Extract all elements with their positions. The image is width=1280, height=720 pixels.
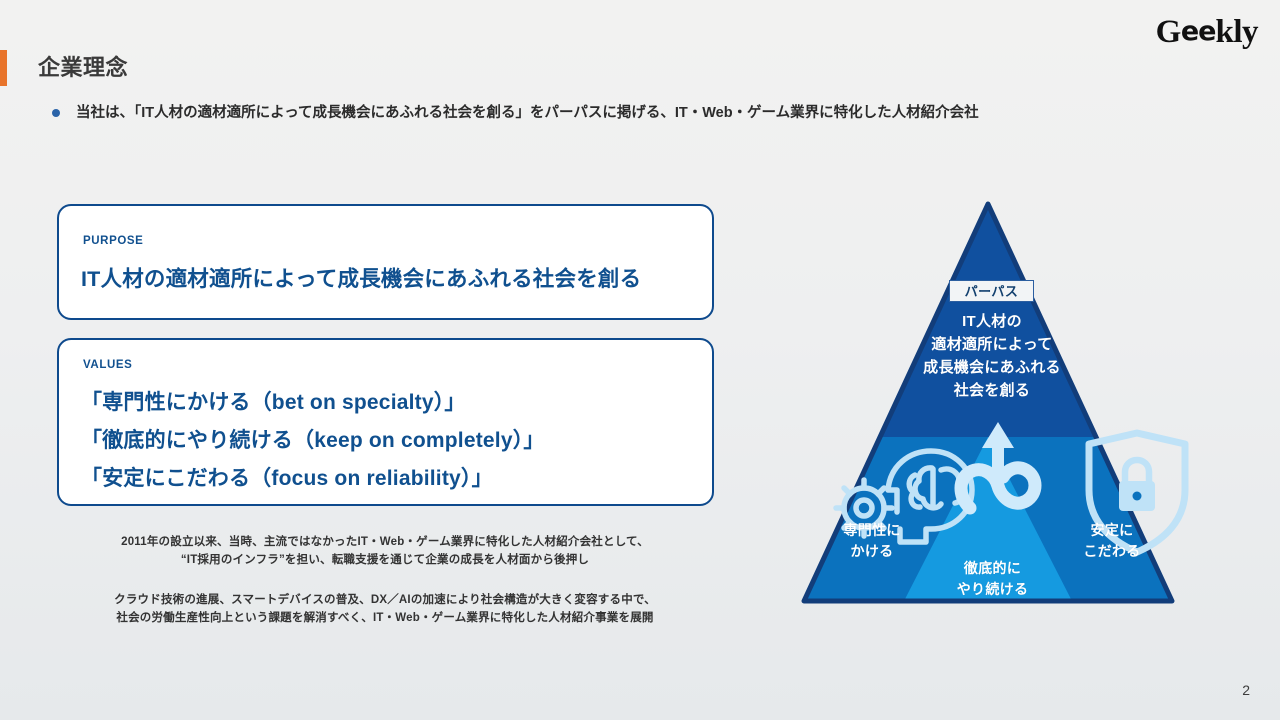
pyramid-value-left: 専門性に かける — [782, 520, 962, 562]
footnote-history-line-1: 2011年の設立以来、当時、主流ではなかったIT・Web・ゲーム業界に特化した人… — [55, 533, 715, 551]
footnote-market-line-2: 社会の労働生産性向上という課題を解消すべく、IT・Web・ゲーム業界に特化した人… — [55, 609, 715, 627]
lock-shackle — [1125, 460, 1149, 481]
values-card: VALUES 「専門性にかける（bet on specialty）」 「徹底的に… — [57, 338, 714, 506]
pyramid-value-right-line-1: 安定に — [1022, 520, 1202, 541]
pyramid-value-left-line-1: 専門性に — [782, 520, 962, 541]
bullet-dot-icon — [52, 109, 60, 117]
footnote-market: クラウド技術の進展、スマートデバイスの普及、DX／AIの加速により社会構造が大き… — [55, 591, 715, 627]
lock-keyhole — [1133, 492, 1142, 501]
purpose-card-kicker: PURPOSE — [83, 235, 143, 247]
values-card-kicker: VALUES — [83, 359, 132, 371]
lead-bullet-row: 当社は、「IT人材の適材適所によって成長機会にあふれる社会を創る」をパーパスに掲… — [52, 102, 979, 124]
pyramid-value-right-line-2: こだわる — [1022, 541, 1202, 562]
slide-header: 企業理念 Geekly — [0, 0, 1280, 95]
purpose-statement: IT人材の適材適所によって成長機会にあふれる社会を創る — [81, 262, 641, 293]
footnote-history: 2011年の設立以来、当時、主流ではなかったIT・Web・ゲーム業界に特化した人… — [55, 533, 715, 569]
pyramid-value-right: 安定に こだわる — [1022, 520, 1202, 562]
title-accent-bar — [0, 50, 7, 86]
page-number: 2 — [1242, 682, 1250, 698]
pyramid-value-center-line-2: やり続ける — [925, 579, 1060, 600]
footnote-market-line-1: クラウド技術の進展、スマートデバイスの普及、DX／AIの加速により社会構造が大き… — [55, 591, 715, 609]
logo-letters-kly: kly — [1215, 14, 1258, 50]
pyramid-value-center: 徹底的に やり続ける — [925, 558, 1060, 600]
pyramid-purpose-line-1: IT人材の — [862, 310, 1122, 333]
purpose-values-pyramid: パーパス IT人材の 適材適所によって 成長機会にあふれる 社会を創る 専門性に… — [742, 190, 1242, 620]
lead-bullet-text: 当社は、「IT人材の適材適所によって成長機会にあふれる社会を創る」をパーパスに掲… — [76, 102, 979, 124]
pyramid-purpose-line-2: 適材適所によって — [862, 333, 1122, 356]
pyramid-purpose-text: IT人材の 適材適所によって 成長機会にあふれる 社会を創る — [862, 310, 1122, 402]
value-item-1: 「専門性にかける（bet on specialty）」 — [81, 384, 545, 422]
logo-letters-ee: ee — [1181, 13, 1216, 51]
value-item-3: 「安定にこだわる（focus on reliability）」 — [81, 460, 545, 498]
pyramid-purpose-line-4: 社会を創る — [862, 379, 1122, 402]
logo-letter-g: G — [1156, 14, 1181, 50]
value-item-2: 「徹底的にやり続ける（keep on completely）」 — [81, 422, 545, 460]
page-title: 企業理念 — [38, 52, 128, 84]
purpose-tag-badge: パーパス — [949, 280, 1034, 302]
footnote-history-line-2: “IT採用のインフラ”を担い、転職支援を通じて企業の成長を人材面から後押し — [55, 551, 715, 569]
pyramid-purpose-line-3: 成長機会にあふれる — [862, 356, 1122, 379]
geekly-logo: Geekly — [1156, 13, 1258, 53]
purpose-card: PURPOSE IT人材の適材適所によって成長機会にあふれる社会を創る — [57, 204, 714, 320]
values-list: 「専門性にかける（bet on specialty）」 「徹底的にやり続ける（k… — [81, 384, 545, 498]
